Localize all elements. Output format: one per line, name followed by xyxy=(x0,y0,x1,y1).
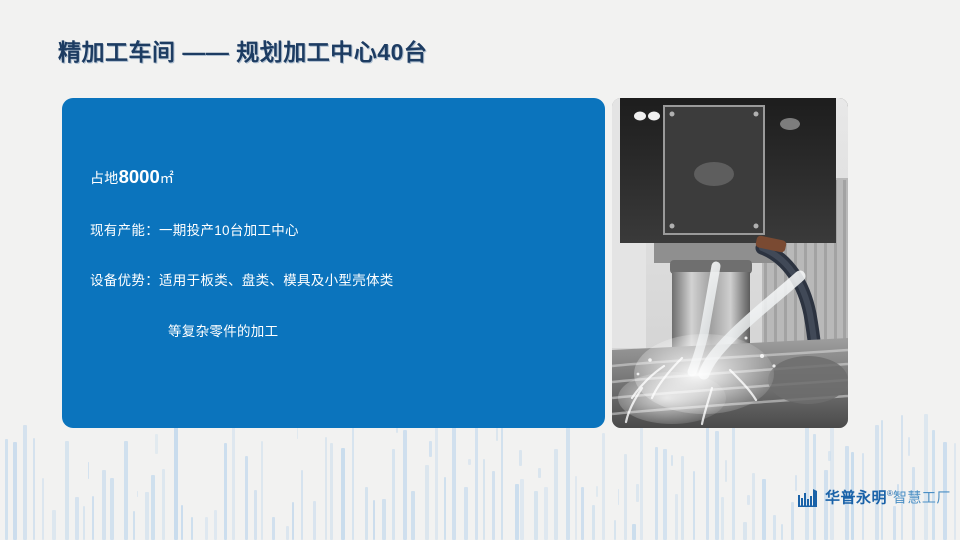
decorative-bar xyxy=(501,423,503,540)
decorative-bar xyxy=(92,496,94,540)
decorative-bar xyxy=(575,476,577,540)
decorative-bar xyxy=(245,456,248,540)
decorative-bar xyxy=(566,417,570,540)
decorative-bar xyxy=(13,442,17,540)
info-card: 占地8000㎡ 现有产能：一期投产10台加工中心 设备优势：适用于板类、盘类、模… xyxy=(62,98,605,428)
decorative-bar xyxy=(893,506,896,540)
decorative-bar xyxy=(232,426,235,540)
decorative-bar xyxy=(881,420,883,540)
decorative-bar xyxy=(425,465,429,540)
decorative-bar xyxy=(781,524,783,540)
decorative-bar xyxy=(464,487,468,540)
machine-photo-illustration xyxy=(612,98,848,428)
decorative-bar xyxy=(191,517,193,540)
decorative-bar xyxy=(174,420,178,540)
decorative-bar xyxy=(721,497,724,540)
decorative-bar xyxy=(492,471,495,540)
brand-tagline: 智慧工厂 xyxy=(893,489,951,505)
machine-photo xyxy=(612,98,848,428)
info-line-equipment-advantage-cont: 等复杂零件的加工 xyxy=(90,325,575,339)
decorative-bar xyxy=(365,487,368,540)
decorative-bar xyxy=(75,497,79,540)
decorative-bar xyxy=(762,479,766,540)
decorative-bar xyxy=(592,505,595,540)
decorative-bar xyxy=(875,425,879,540)
decorative-bar xyxy=(52,510,56,540)
decorative-bar xyxy=(655,447,658,540)
info-line-capacity: 现有产能：一期投产10台加工中心 xyxy=(90,224,575,238)
decorative-bar xyxy=(110,478,114,540)
decorative-bar xyxy=(382,499,386,540)
decorative-bar-segment xyxy=(519,450,522,466)
decorative-bar xyxy=(901,415,903,540)
decorative-bar xyxy=(452,418,456,540)
decorative-bar xyxy=(773,515,776,540)
decorative-bar xyxy=(392,449,395,540)
decorative-bar xyxy=(205,517,208,540)
decorative-bar-segment xyxy=(429,441,432,458)
decorative-bar xyxy=(444,477,446,540)
decorative-bar xyxy=(732,422,735,540)
decorative-bar xyxy=(145,492,149,540)
decorative-bar xyxy=(5,439,8,540)
decorative-bar xyxy=(224,443,227,540)
info-line-equipment-advantage: 设备优势：适用于板类、盘类、模具及小型壳体类 xyxy=(90,274,575,288)
decorative-bar xyxy=(830,417,834,540)
decorative-bar xyxy=(581,487,584,540)
decorative-bar xyxy=(706,425,709,540)
decorative-bar-segment xyxy=(618,489,619,504)
decorative-bar-pattern xyxy=(0,410,960,540)
decorative-bar xyxy=(272,517,275,540)
decorative-bar xyxy=(932,430,935,540)
decorative-bar xyxy=(124,441,128,540)
decorative-bar-segment xyxy=(88,462,89,479)
decorative-bar xyxy=(520,479,524,540)
decorative-bar-segment xyxy=(596,486,598,497)
footer-logo: 华普永明®智慧工厂 xyxy=(798,489,951,507)
decorative-bar xyxy=(515,484,519,540)
decorative-bar xyxy=(602,433,605,540)
decorative-bar xyxy=(133,511,135,540)
decorative-bar-segment xyxy=(538,468,541,478)
decorative-bar-segment xyxy=(155,434,158,454)
decorative-bar xyxy=(352,416,354,540)
decorative-bar xyxy=(313,501,316,540)
decorative-bar-segment xyxy=(177,472,178,481)
decorative-bar xyxy=(544,487,548,540)
decorative-bar xyxy=(33,438,35,540)
decorative-bar xyxy=(162,469,165,540)
decorative-bar-segment xyxy=(795,475,797,491)
decorative-bar-segment xyxy=(908,437,910,455)
decorative-bar-segment xyxy=(137,491,138,497)
decorative-bar xyxy=(534,491,538,540)
brand-name: 华普永明 xyxy=(825,489,887,506)
decorative-bar xyxy=(640,426,643,540)
decorative-bar xyxy=(791,502,794,540)
decorative-bar xyxy=(214,510,217,540)
decorative-bar xyxy=(411,491,415,540)
decorative-bar xyxy=(261,441,263,540)
footer-logo-text: 华普永明®智慧工厂 xyxy=(825,489,951,507)
slide-canvas: 精加工车间 —— 规划加工中心40台 占地8000㎡ 现有产能：一期投产10台加… xyxy=(0,0,960,540)
decorative-bar xyxy=(743,522,747,540)
decorative-bar xyxy=(181,505,183,540)
decorative-bar xyxy=(805,416,809,540)
decorative-bar xyxy=(83,506,85,540)
page-title: 精加工车间 —— 规划加工中心40台 xyxy=(58,33,427,67)
decorative-bar xyxy=(663,449,667,540)
decorative-bar xyxy=(954,443,956,540)
decorative-bar xyxy=(373,500,375,540)
decorative-bar xyxy=(42,478,44,540)
decorative-bar xyxy=(614,520,616,540)
decorative-bar-segment xyxy=(747,495,750,505)
decorative-bar xyxy=(151,475,155,540)
decorative-bar xyxy=(475,416,478,540)
decorative-bar xyxy=(752,473,755,540)
land-area-unit: ㎡ xyxy=(160,170,174,186)
decorative-bar xyxy=(681,456,684,540)
factory-skyline-icon xyxy=(798,489,820,507)
decorative-bar xyxy=(693,471,695,540)
decorative-bar xyxy=(325,437,327,540)
decorative-bar xyxy=(65,441,69,540)
decorative-bar xyxy=(286,526,289,540)
decorative-bar xyxy=(715,431,719,540)
decorative-bar xyxy=(554,449,558,540)
decorative-bar xyxy=(254,490,257,540)
decorative-bar xyxy=(292,502,294,540)
decorative-bar xyxy=(632,524,636,540)
decorative-bar-segment xyxy=(468,459,471,465)
land-area-value: 8000 xyxy=(119,166,160,187)
decorative-bar xyxy=(403,430,407,540)
decorative-bar xyxy=(675,494,678,540)
decorative-bar xyxy=(330,443,333,540)
decorative-bar xyxy=(435,426,438,540)
decorative-bar-segment xyxy=(496,426,498,442)
decorative-bar xyxy=(813,434,816,540)
decorative-bar-segment xyxy=(636,484,639,501)
decorative-bar xyxy=(102,470,106,540)
decorative-bar xyxy=(301,470,303,540)
decorative-bar-segment xyxy=(671,455,673,466)
decorative-bar xyxy=(624,454,627,540)
decorative-bar xyxy=(23,425,27,540)
decorative-bar xyxy=(483,459,485,540)
decorative-bar xyxy=(341,448,345,540)
info-line-land-area: 占地8000㎡ xyxy=(90,168,575,187)
decorative-bar-segment xyxy=(828,451,831,461)
land-area-prefix: 占地 xyxy=(90,170,119,186)
decorative-bar-segment xyxy=(725,460,727,482)
decorative-bar xyxy=(924,414,928,540)
